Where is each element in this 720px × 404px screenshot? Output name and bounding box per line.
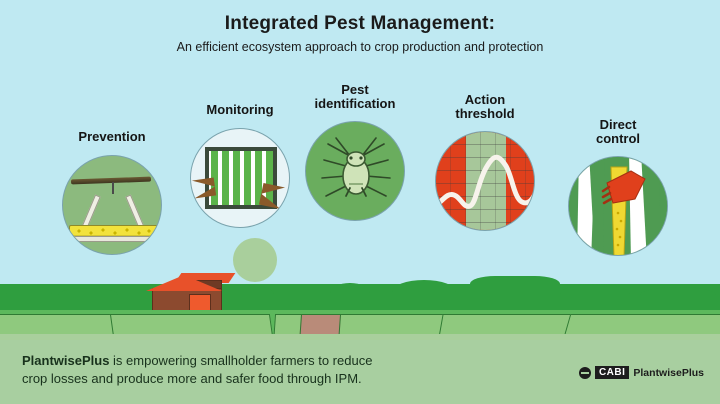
page-title: Integrated Pest Management: bbox=[0, 13, 720, 35]
infographic-canvas: Integrated Pest Management: An efficient… bbox=[0, 0, 720, 404]
tray-base-icon bbox=[67, 236, 161, 242]
plantwiseplus-wordmark: PlantwisePlus bbox=[633, 367, 704, 379]
bush bbox=[58, 288, 118, 302]
cabi-logo-mark: CABI bbox=[595, 366, 629, 379]
drying-pole-icon bbox=[71, 177, 151, 185]
globe-icon bbox=[579, 367, 591, 379]
step-label-direct-control-line1: Direct bbox=[538, 118, 698, 132]
step-label-action-threshold-line1: Action bbox=[405, 93, 565, 107]
caption-line1-rest: is empowering smallholder farmers to red… bbox=[109, 353, 372, 368]
pest-identification-illustration bbox=[305, 121, 405, 221]
pesticide-application-icon bbox=[569, 157, 668, 256]
rope-icon bbox=[112, 182, 114, 194]
monitoring-illustration bbox=[190, 128, 290, 228]
caption-line2: crop losses and produce more and safer f… bbox=[22, 371, 362, 386]
hand-left-icon bbox=[192, 178, 216, 199]
threshold-curve-icon bbox=[436, 132, 535, 231]
direct-control-illustration bbox=[568, 156, 668, 256]
step-label-prevention: Prevention bbox=[32, 130, 192, 144]
bush bbox=[560, 284, 630, 304]
step-label-direct-control-line2: control bbox=[538, 132, 698, 146]
bush bbox=[392, 280, 456, 304]
brand-name: PlantwisePlus bbox=[22, 353, 109, 368]
bush bbox=[470, 276, 560, 304]
bush bbox=[220, 285, 274, 303]
barn-roof-icon bbox=[146, 275, 222, 291]
prevention-illustration bbox=[62, 155, 162, 255]
hand-right-icon bbox=[259, 183, 285, 209]
sun-icon bbox=[233, 238, 277, 282]
bush bbox=[6, 286, 52, 302]
bush bbox=[330, 283, 370, 303]
page-subtitle: An efficient ecosystem approach to crop … bbox=[0, 40, 720, 54]
aphid-insect-icon bbox=[306, 122, 405, 221]
action-threshold-illustration bbox=[435, 131, 535, 231]
cabi-plantwiseplus-logo[interactable]: CABI PlantwisePlus bbox=[579, 366, 704, 379]
caption-text: PlantwisePlus is empowering smallholder … bbox=[22, 352, 542, 388]
bush bbox=[640, 287, 716, 303]
